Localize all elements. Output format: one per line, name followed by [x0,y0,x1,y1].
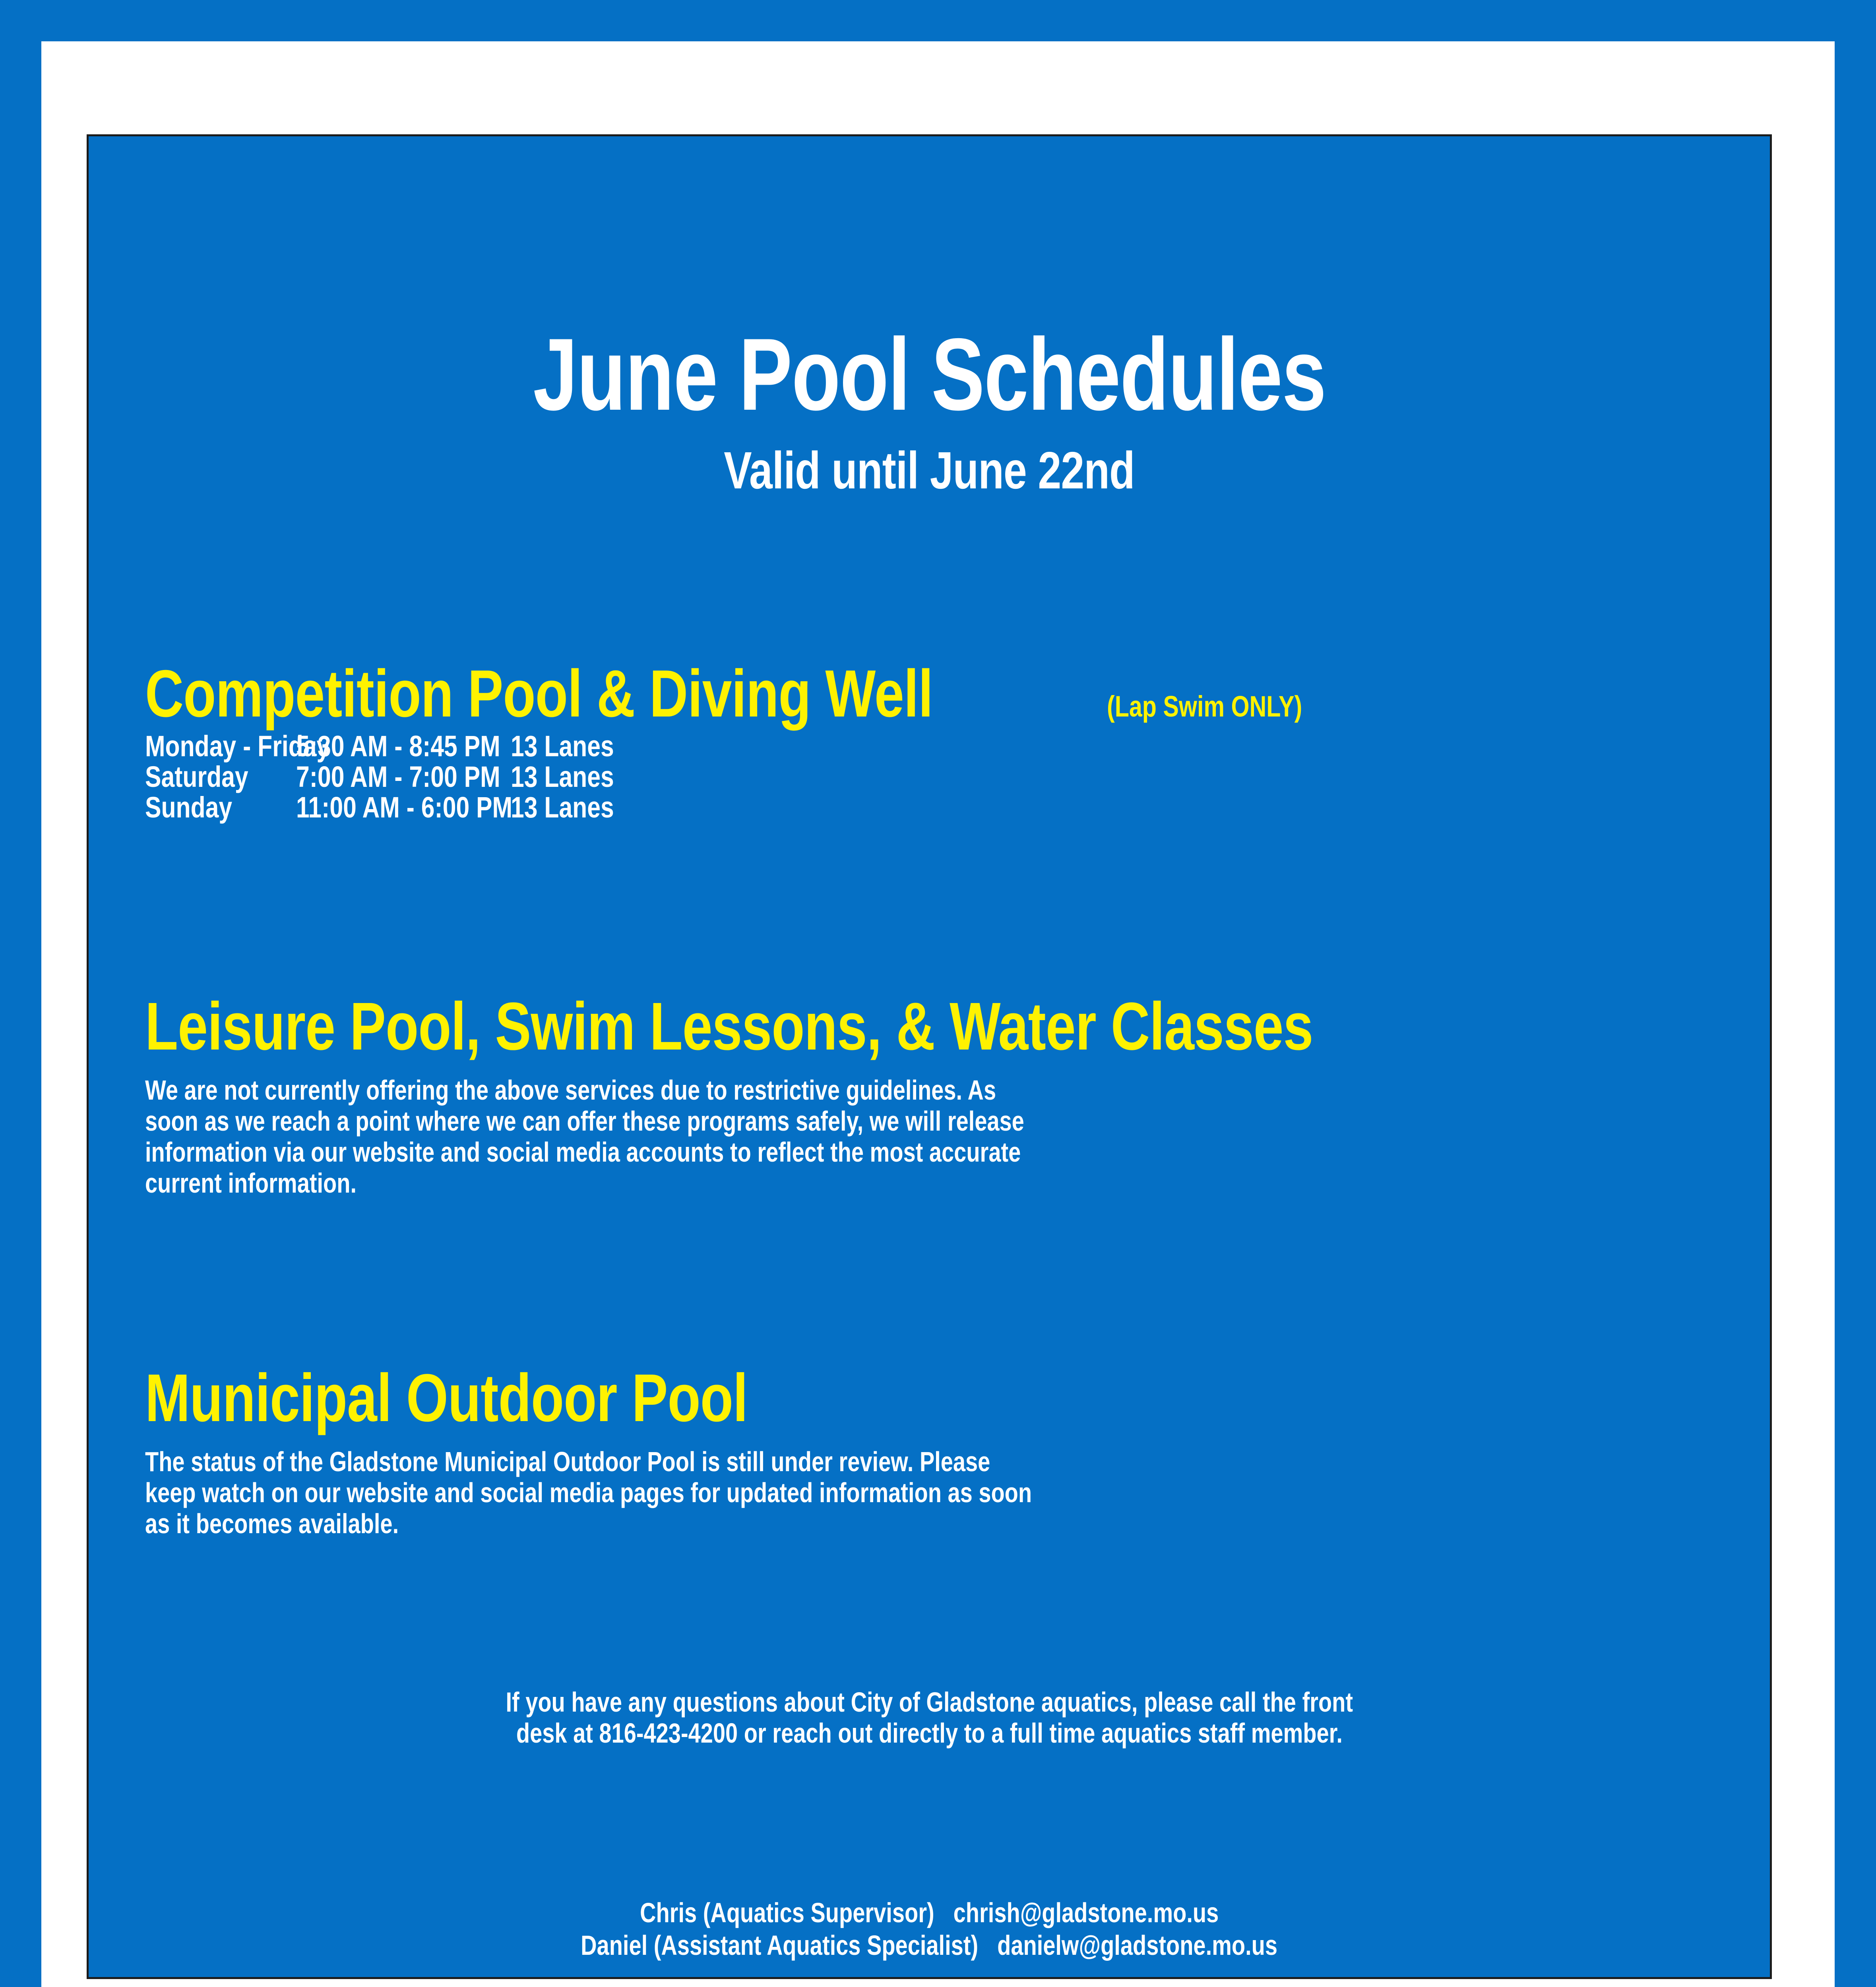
schedule-day: Sunday [145,793,269,822]
schedule-day: Monday - Friday [145,732,269,761]
competition-pool-schedule-table: Monday - Friday5:30 AM - 8:45 PM13 Lanes… [145,732,670,823]
contact-info-block: If you have any questions about City of … [89,1688,1770,1750]
body-line: The status of the Gladstone Municipal Ou… [145,1448,1876,1479]
section-leisure-pool-heading: Leisure Pool, Swim Lessons, & Water Clas… [145,993,1743,1060]
contact-line-text: If you have any questions about City of … [506,1688,1353,1716]
table-row: Sunday11:00 AM - 6:00 PM13 Lanes [145,793,670,823]
table-row: Saturday7:00 AM - 7:00 PM13 Lanes [145,762,670,793]
staff-email[interactable]: chrish@gladstone.mo.us [953,1897,1219,1928]
body-line: keep watch on our website and social med… [145,1479,1876,1510]
contact-line-text: desk at 816-423-4200 or reach out direct… [516,1719,1342,1747]
section-leisure-pool-body: We are not currently offering the above … [145,1076,1876,1200]
staff-role: Chris (Aquatics Supervisor) [640,1897,934,1928]
body-line-text: We are not currently offering the above … [145,1076,996,1104]
section-heading-municipal: Municipal Outdoor Pool [145,1364,748,1432]
page-title: June Pool Schedules [89,323,1770,426]
schedule-hours: 7:00 AM - 7:00 PM [296,762,472,792]
section-municipal-pool-body: The status of the Gladstone Municipal Ou… [145,1448,1876,1541]
page-subtitle-text: Valid until June 22nd [724,444,1135,497]
body-line: information via our website and social m… [145,1138,1876,1169]
body-line: current information. [145,1169,1876,1200]
list-item: Daniel (Assistant Aquatics Specialist)da… [89,1931,1770,1964]
schedule-lanes: 13 Lanes [511,762,641,792]
body-line: We are not currently offering the above … [145,1076,1876,1107]
schedule-hours: 11:00 AM - 6:00 PM [296,793,472,822]
page-title-text: June Pool Schedules [533,323,1326,426]
page-subtitle: Valid until June 22nd [89,444,1770,497]
table-row: Monday - Friday5:30 AM - 8:45 PM13 Lanes [145,732,670,762]
body-line-text: soon as we reach a point where we can of… [145,1107,1024,1135]
schedule-hours: 5:30 AM - 8:45 PM [296,732,472,761]
schedule-day: Saturday [145,762,269,792]
section-municipal-pool-heading: Municipal Outdoor Pool [145,1364,1743,1432]
section-heading-note-lap-swim: (Lap Swim ONLY) [1107,692,1302,721]
staff-contact-list: Chris (Aquatics Supervisor)chrish@gladst… [89,1899,1770,1964]
body-line-text: keep watch on our website and social med… [145,1479,1032,1507]
section-heading-competition: Competition Pool & Diving Well [145,660,933,727]
body-line: soon as we reach a point where we can of… [145,1107,1876,1138]
pool-schedule-poster: June Pool Schedules Valid until June 22n… [0,0,1876,1987]
content-panel: June Pool Schedules Valid until June 22n… [87,134,1772,1979]
schedule-lanes: 13 Lanes [511,793,641,822]
body-line-text: information via our website and social m… [145,1138,1021,1166]
section-heading-leisure: Leisure Pool, Swim Lessons, & Water Clas… [145,993,1313,1060]
staff-role: Daniel (Assistant Aquatics Specialist) [581,1930,979,1961]
body-line-text: The status of the Gladstone Municipal Ou… [145,1448,990,1476]
section-competition-pool-heading: Competition Pool & Diving Well(Lap Swim … [145,660,1735,728]
body-line-text: as it becomes available. [145,1510,399,1538]
contact-line: If you have any questions about City of … [89,1688,1770,1719]
schedule-lanes: 13 Lanes [511,732,641,761]
body-line-text: current information. [145,1169,357,1197]
body-line: as it becomes available. [145,1510,1876,1541]
list-item: Chris (Aquatics Supervisor)chrish@gladst… [89,1899,1770,1931]
staff-email[interactable]: danielw@gladstone.mo.us [998,1930,1278,1961]
contact-line: desk at 816-423-4200 or reach out direct… [89,1719,1770,1750]
